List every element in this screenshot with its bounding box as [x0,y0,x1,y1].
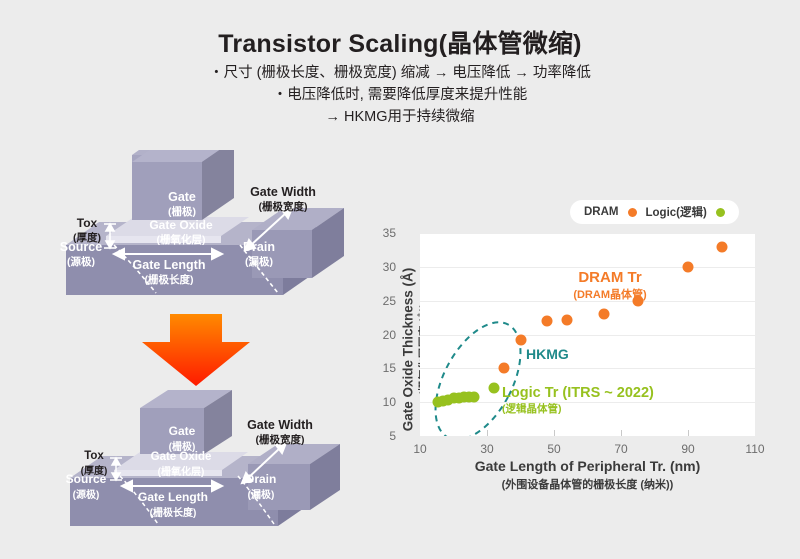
x-axis-label: Gate Length of Peripheral Tr. (nm) (外围设备… [420,458,755,492]
bullet-item-1: ・尺寸 (栅极长度、栅极宽度) 缩减 → 电压降低 → 功率降低 [0,62,800,84]
hkmg-annotation: HKMG [526,346,569,362]
x-tick-label: 50 [534,442,574,456]
tick-mark-x [487,430,488,436]
dram-annotation: DRAM Tr (DRAM晶体管) [550,269,670,302]
label-drain: Drain (漏极) [230,472,292,501]
data-point [488,382,499,393]
data-point [498,362,509,373]
bullet-item-2: ・电压降低时, 需要降低厚度来提升性能 [0,84,800,106]
label-source: Source (源极) [52,472,120,501]
bullet-list: ・尺寸 (栅极长度、栅极宽度) 缩减 → 电压降低 → 功率降低 ・电压降低时,… [0,62,800,128]
data-point [716,241,727,252]
tick-mark-x [688,430,689,436]
label-gate-oxide: Gate Oxide (栅氧化层) [134,451,228,478]
y-tick-label: 15 [356,361,396,375]
x-tick-label: 30 [467,442,507,456]
gridline-horizontal [420,368,755,369]
label-gate: Gate (栅极) [146,190,218,219]
tick-mark-x [621,430,622,436]
gridline-horizontal [420,335,755,336]
label-gate-length: Gate Length (栅极长度) [122,258,216,287]
scatter-chart: DRAM Logic(逻辑) 5101520253035 10305070901… [368,196,788,516]
data-point [632,295,643,306]
label-gate: Gate (栅极) [148,424,216,453]
label-drain: Drain (漏极) [227,240,291,269]
label-gate-width: Gate Width (栅极宽度) [237,185,329,214]
data-point [599,309,610,320]
x-tick-label: 90 [668,442,708,456]
y-tick-label: 20 [356,328,396,342]
legend-label-dram: DRAM [584,206,619,218]
y-tick-label: 35 [356,226,396,240]
data-point [515,334,526,345]
slide-canvas: Transistor Scaling(晶体管微缩) ・尺寸 (栅极长度、栅极宽度… [0,0,800,559]
y-tick-label: 25 [356,294,396,308]
data-point [542,315,553,326]
tick-mark-x [554,430,555,436]
gridline-horizontal [420,233,755,234]
x-tick-label: 70 [601,442,641,456]
y-tick-label: 5 [356,429,396,443]
gridline-horizontal [420,267,755,268]
label-gate-width: Gate Width (栅极宽度) [234,418,326,447]
bullet-item-3: → HKMG用于持续微缩 [0,106,800,128]
x-tick-label: 110 [735,442,775,456]
transistor-diagram-large: Gate (栅极) Gate Width (栅极宽度) Tox (厚度) Gat… [44,150,364,302]
label-gate-oxide: Gate Oxide (栅氧化层) [132,218,230,247]
label-source: Source (源极) [46,240,116,269]
data-point [562,315,573,326]
label-gate-length: Gate Length (栅极长度) [128,490,218,519]
plot-area: DRAM Tr (DRAM晶体管) Logic Tr (ITRS ~ 2022)… [420,233,755,436]
legend-label-logic: Logic(逻辑) [646,204,707,220]
logic-annotation: Logic Tr (ITRS ~ 2022) (逻辑晶体管) [502,385,682,416]
down-arrow [140,312,252,393]
data-point [683,261,694,272]
gridline-horizontal [420,301,755,302]
y-tick-label: 30 [356,260,396,274]
legend-swatch-dram-icon [628,208,637,217]
legend-swatch-logic-icon [716,208,725,217]
page-title: Transistor Scaling(晶体管微缩) [0,24,800,60]
chart-legend: DRAM Logic(逻辑) [570,200,739,224]
transistor-diagram-small: Gate (栅极) Gate Width (栅极宽度) Tox (厚度) Gat… [52,388,352,534]
data-point [468,391,479,402]
y-tick-label: 10 [356,395,396,409]
